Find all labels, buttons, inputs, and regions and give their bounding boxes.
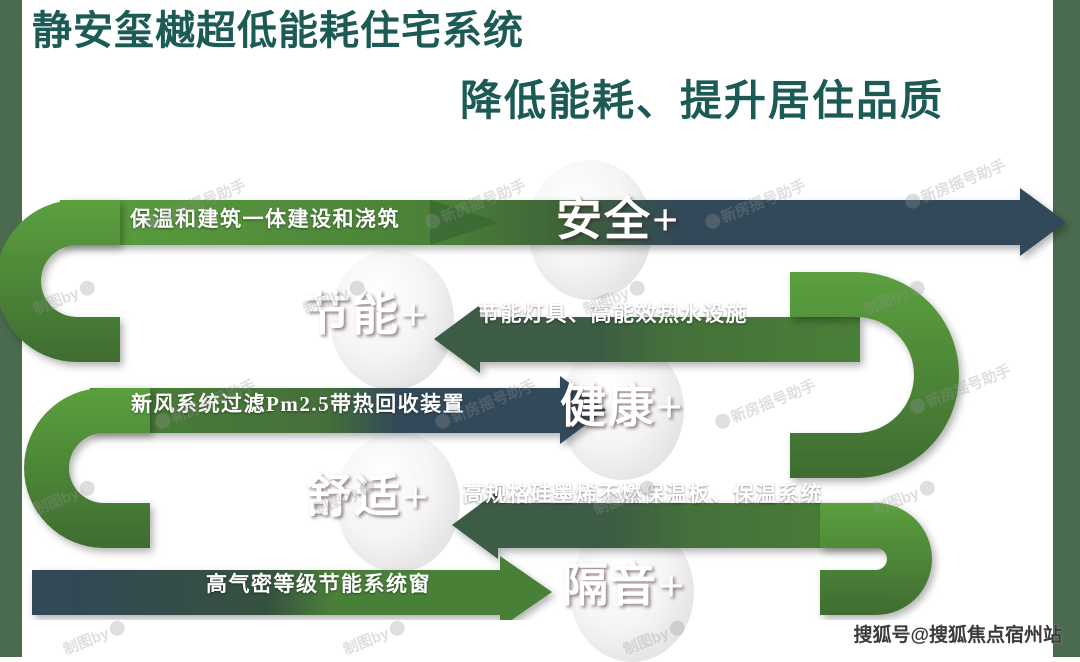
page-title: 静安玺樾超低能耗住宅系统 — [32, 8, 524, 54]
connector-left-1 — [0, 200, 120, 362]
row-5-description: 高气密等级节能系统窗 — [206, 568, 431, 598]
connector-right-2 — [820, 503, 932, 615]
watermark-tile: 制图by — [60, 615, 130, 659]
sohu-watermark: 搜狐号@搜狐焦点宿州站 — [853, 620, 1062, 647]
slide-canvas: 静安玺樾超低能耗住宅系统 降低能耗、提升居住品质 — [0, 0, 1080, 657]
row-1-keyword: 安全+ — [556, 183, 680, 249]
watermark-tile: 制图by — [340, 615, 410, 659]
row-5-keyword: 隔音+ — [562, 549, 686, 615]
row-3-keyword: 健康+ — [560, 370, 684, 436]
page-subtitle: 降低能耗、提升居住品质 — [460, 78, 944, 126]
